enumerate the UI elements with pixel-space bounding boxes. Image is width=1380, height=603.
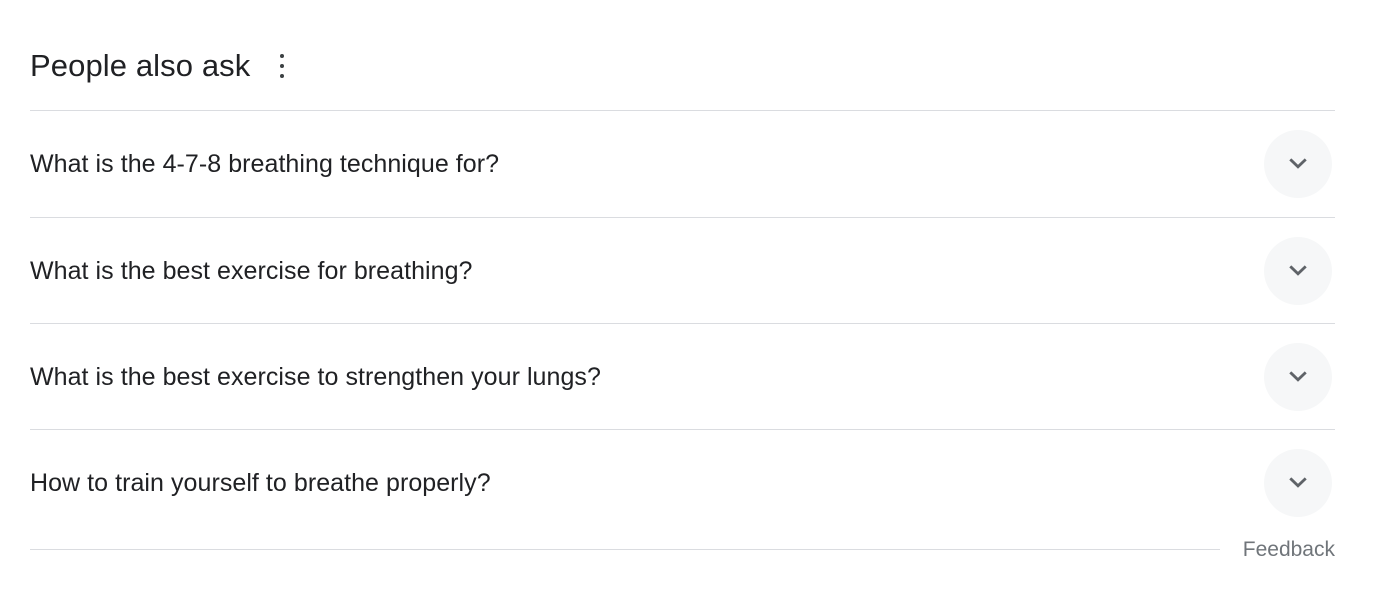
paa-question-row[interactable]: What is the 4-7-8 breathing technique fo…	[30, 111, 1335, 217]
page-title: People also ask	[30, 48, 250, 84]
feedback-link[interactable]: Feedback	[1231, 536, 1335, 564]
paa-question-row[interactable]: How to train yourself to breathe properl…	[30, 430, 1335, 536]
paa-question-row[interactable]: What is the best exercise for breathing?	[30, 218, 1335, 324]
module-header: People also ask	[30, 40, 296, 92]
kebab-dot	[280, 54, 284, 58]
kebab-dot	[280, 64, 284, 68]
question-text: What is the 4-7-8 breathing technique fo…	[30, 148, 499, 180]
question-text: What is the best exercise for breathing?	[30, 255, 473, 287]
chevron-down-icon	[1285, 470, 1311, 496]
question-text: How to train yourself to breathe properl…	[30, 467, 491, 499]
people-also-ask-module: People also ask What is the 4-7-8 breath…	[0, 0, 1380, 603]
kebab-dot	[280, 74, 284, 78]
more-vert-icon[interactable]	[268, 49, 296, 83]
expand-question-button[interactable]	[1264, 343, 1332, 411]
expand-question-button[interactable]	[1264, 130, 1332, 198]
question-text: What is the best exercise to strengthen …	[30, 361, 601, 393]
expand-question-button[interactable]	[1264, 237, 1332, 305]
paa-question-row[interactable]: What is the best exercise to strengthen …	[30, 324, 1335, 430]
chevron-down-icon	[1285, 151, 1311, 177]
expand-question-button[interactable]	[1264, 449, 1332, 517]
chevron-down-icon	[1285, 364, 1311, 390]
chevron-down-icon	[1285, 258, 1311, 284]
divider-footer	[30, 549, 1220, 550]
